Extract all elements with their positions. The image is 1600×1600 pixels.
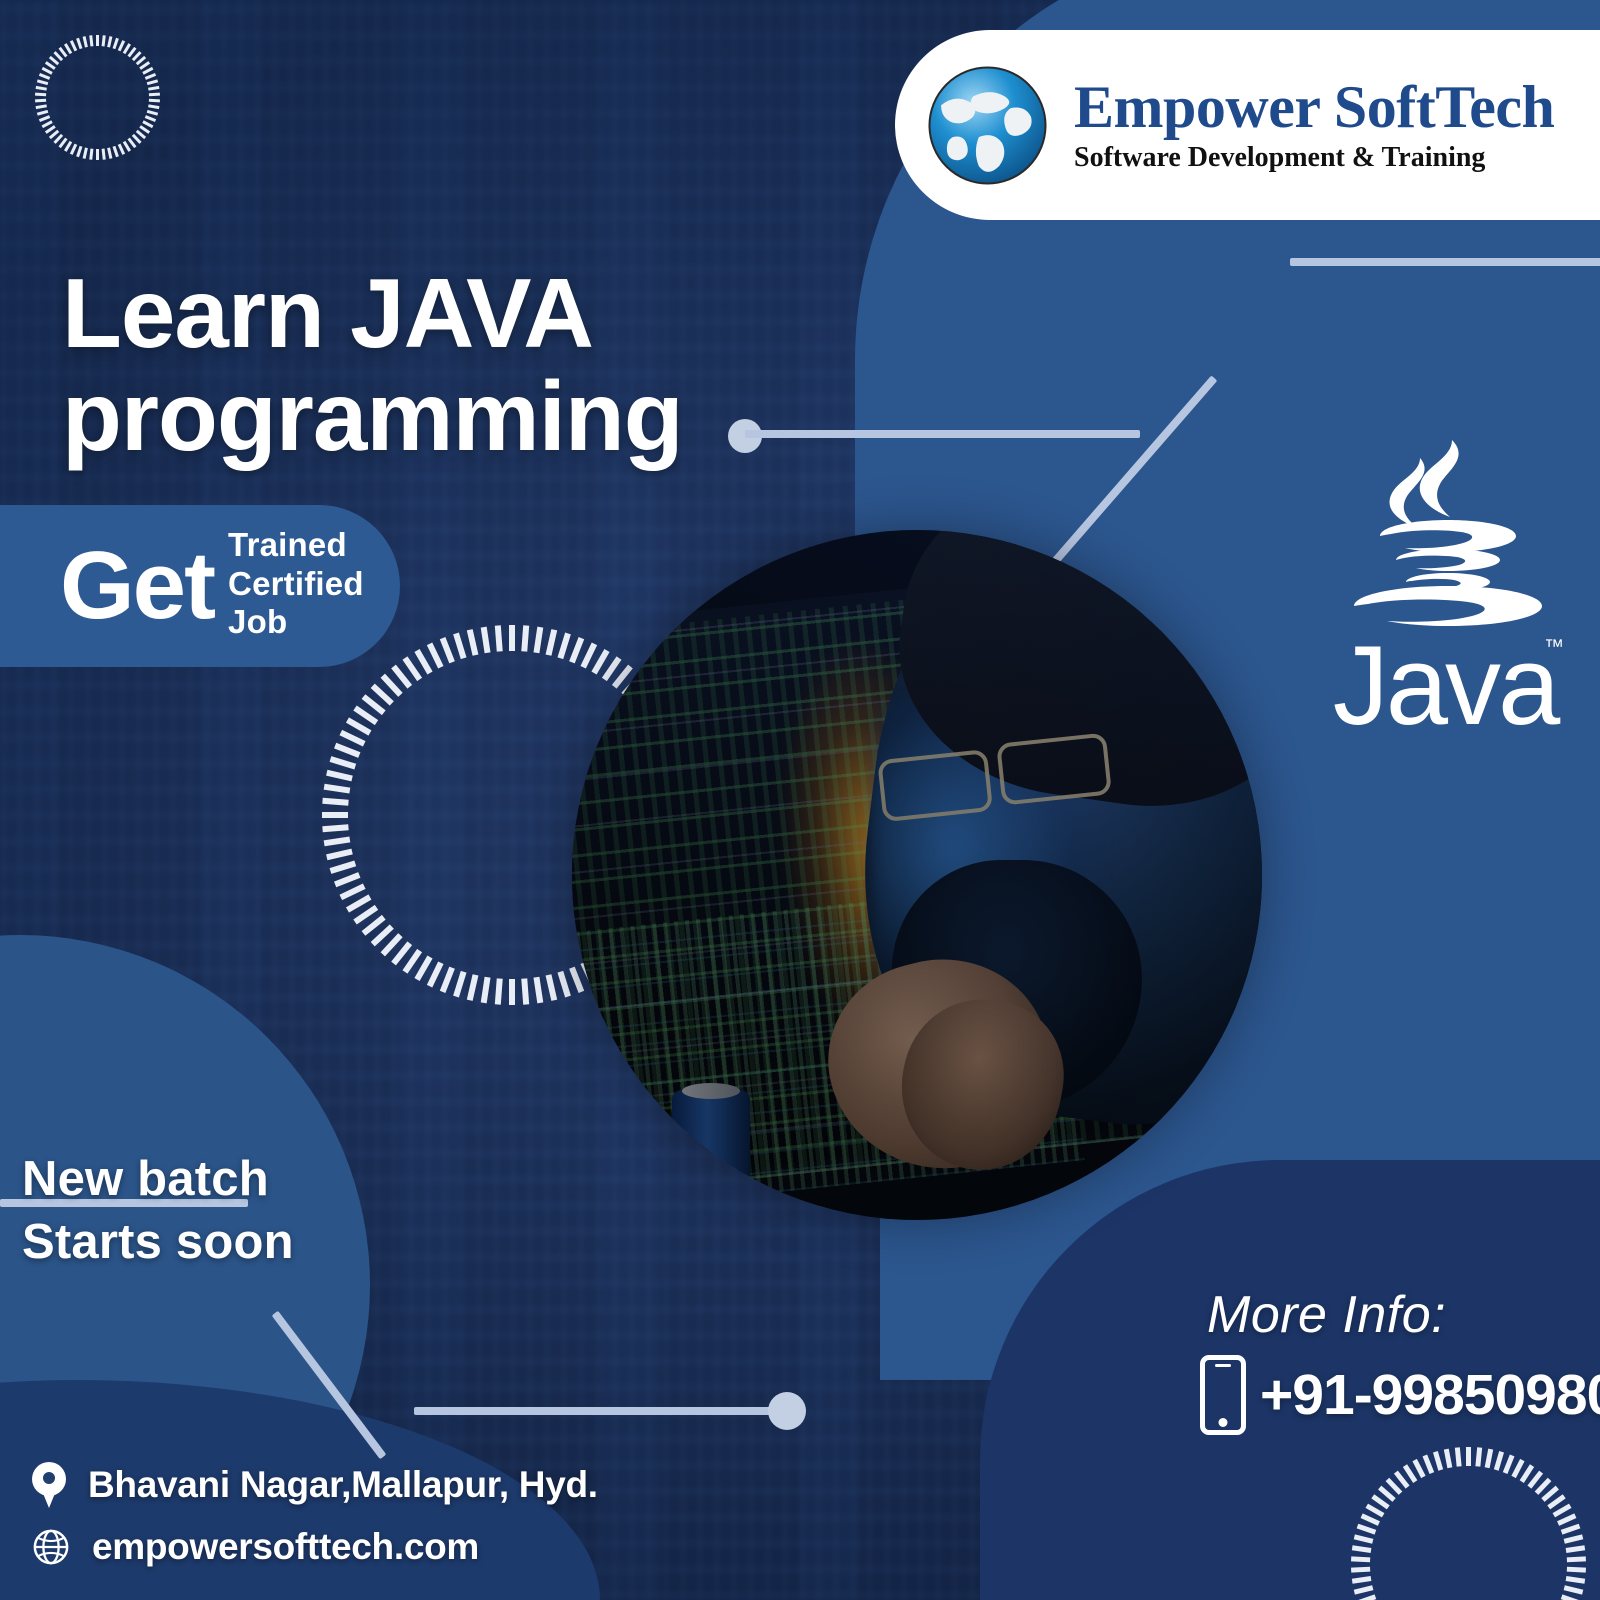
page-title: Learn JAVA programming	[62, 262, 762, 468]
batch-notice: New batch Starts soon	[22, 1148, 294, 1273]
connector-line-lower-h2	[414, 1407, 794, 1415]
brand-name: Empower SoftTech	[1074, 77, 1554, 137]
map-pin-icon	[32, 1462, 66, 1508]
footer-contact: Bhavani Nagar,Mallapur, Hyd. empowersoft…	[32, 1462, 598, 1568]
globe-icon	[915, 53, 1060, 198]
brand-logo-badge[interactable]: Empower SoftTech Software Development & …	[895, 30, 1600, 220]
promo-badge[interactable]: Get Trained Certified Job	[0, 505, 400, 667]
promo-item-trained: Trained	[228, 526, 364, 565]
programmer-photo	[572, 530, 1262, 1220]
java-wordmark: Java	[1320, 630, 1570, 742]
phone-contact[interactable]: +91-9985098081	[1200, 1355, 1600, 1435]
globe-wireframe-icon	[32, 1528, 70, 1566]
headline-line-2: programming	[62, 365, 762, 468]
website-text: empowersofttech.com	[92, 1526, 479, 1568]
java-logo: Java ™	[1320, 430, 1570, 740]
address-text: Bhavani Nagar,Mallapur, Hyd.	[88, 1464, 598, 1506]
batch-notice-line-1: New batch	[22, 1148, 294, 1211]
connector-dot-lower	[768, 1392, 806, 1430]
batch-notice-line-2: Starts soon	[22, 1211, 294, 1274]
phone-number: +91-9985098081	[1260, 1362, 1600, 1428]
website-row[interactable]: empowersofttech.com	[32, 1526, 598, 1568]
mobile-phone-icon	[1200, 1355, 1246, 1435]
promo-item-job: Job	[228, 603, 364, 642]
promo-item-certified: Certified	[228, 565, 364, 604]
ticked-ring-top-left-icon	[35, 35, 160, 160]
promo-badge-lead: Get	[60, 540, 214, 631]
connector-line-upper-h2	[1290, 258, 1600, 266]
brand-tagline: Software Development & Training	[1074, 143, 1554, 174]
java-trademark: ™	[1544, 636, 1564, 659]
more-info-label: More Info:	[1207, 1285, 1446, 1345]
brand-text-block: Empower SoftTech Software Development & …	[1074, 77, 1554, 174]
promo-badge-list: Trained Certified Job	[228, 526, 364, 646]
connector-line-upper-h1	[745, 430, 1140, 438]
headline-line-1: Learn JAVA	[62, 262, 762, 365]
poster-canvas: Empower SoftTech Software Development & …	[0, 0, 1600, 1600]
address-row[interactable]: Bhavani Nagar,Mallapur, Hyd.	[32, 1462, 598, 1508]
java-cup-icon	[1320, 430, 1570, 640]
photo-shade-overlay	[572, 530, 1262, 1220]
